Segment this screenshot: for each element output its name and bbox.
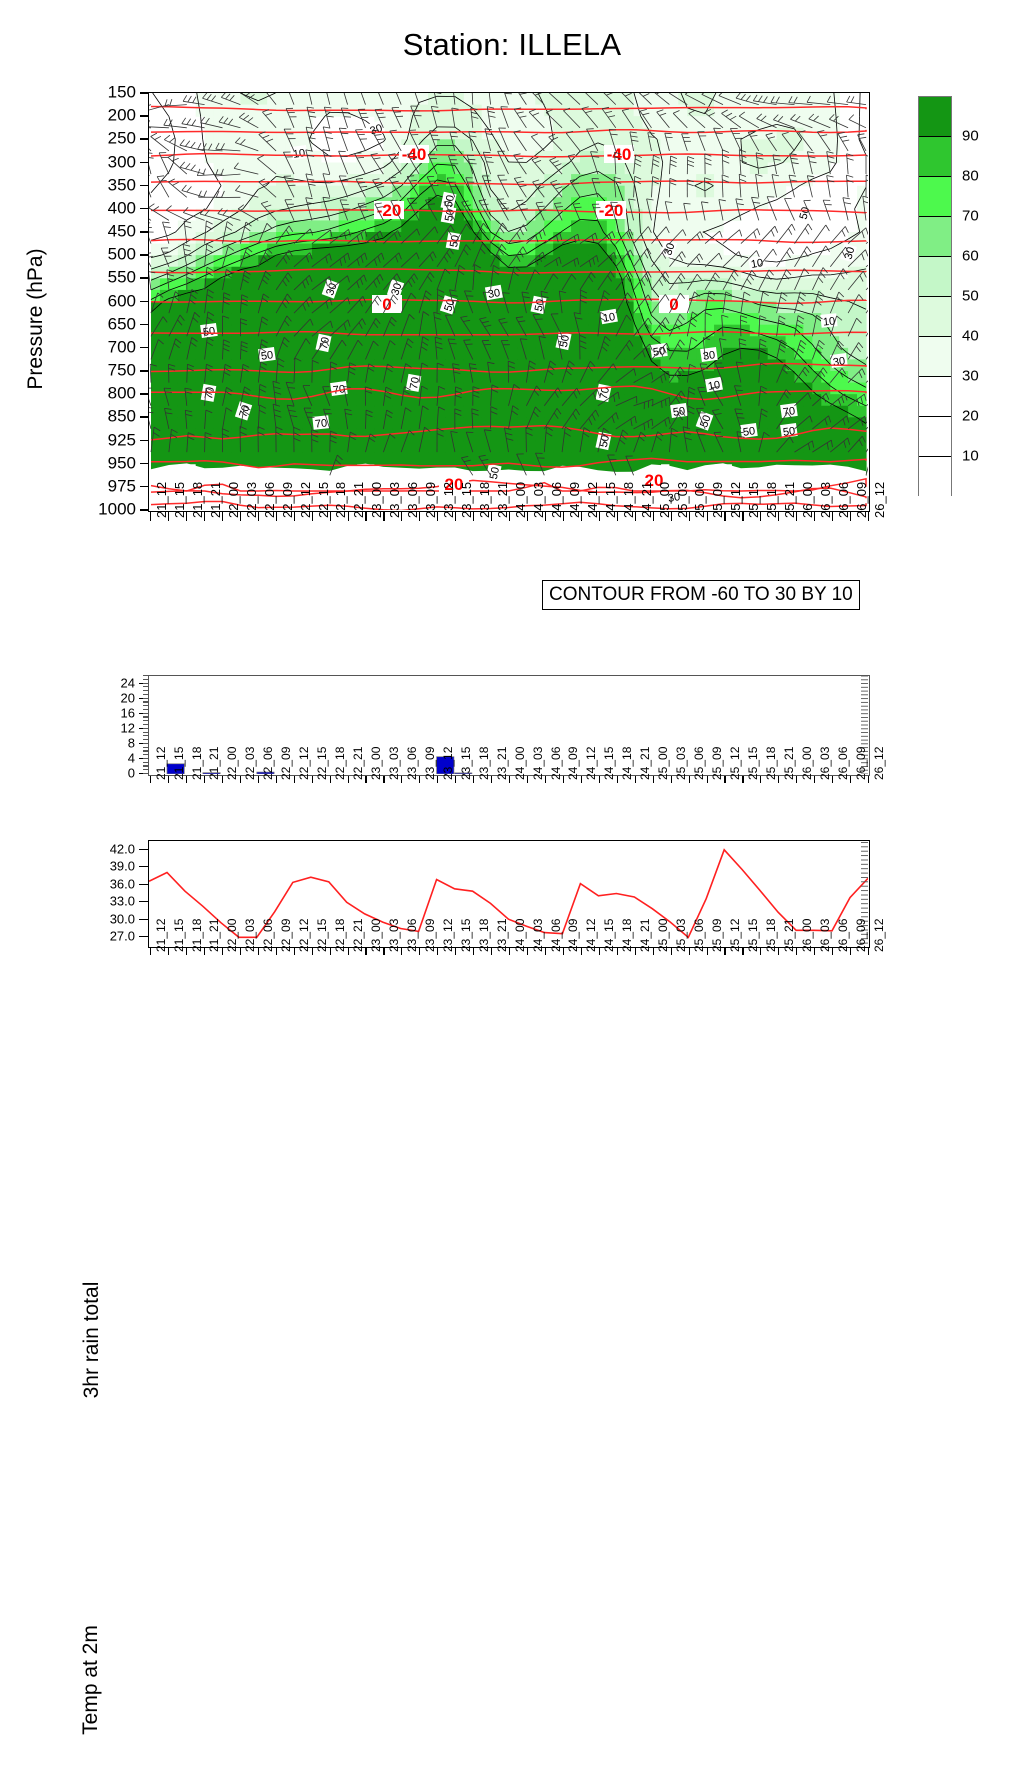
rain-tick-label: 12 [121,721,135,734]
cross-section-x-tick-label: 22_09 [281,482,294,518]
rain-x-tick-label: 22_21 [352,747,365,780]
humidity-colorbar [918,96,952,496]
rain-x-tick-mark [365,776,366,783]
temp-tick-label: 30.0 [110,912,135,925]
rain-x-tick-mark [473,776,474,783]
cross-section-x-tick-label: 22_18 [334,482,347,518]
temp-x-tick-label: 22_18 [334,919,347,952]
cross-section-x-tick-mark [814,512,815,521]
cross-section-x-tick-mark [150,512,151,521]
temp-x-tick-label: 21_18 [191,919,204,952]
colorbar-band [919,297,951,337]
temp-x-tick-label: 26_03 [819,919,832,952]
temp-x-tick-mark [168,948,169,955]
rain-x-tick-mark [168,776,169,783]
rain-tick-label: 4 [128,751,135,764]
rain-x-tick-label: 22_09 [280,747,293,780]
temp-x-tick-label: 22_21 [352,919,365,952]
pressure-tick-mark [140,138,148,140]
temp-x-tick-mark [222,948,223,955]
cross-section-x-tick-label: 26_06 [837,482,850,518]
rain-x-tick-label: 24_06 [550,747,563,780]
rain-x-tick-mark [401,776,402,783]
cross-section-x-tick-mark [599,512,600,521]
cross-section-x-tick-label: 25_06 [693,482,706,518]
temp-tick-label: 33.0 [110,895,135,908]
cross-section-x-tick-mark [760,512,761,521]
pressure-tick-label: 400 [108,199,136,216]
cross-section-x-tick-mark [276,512,277,521]
rain-x-tick-label: 24_03 [532,747,545,780]
rain-x-tick-mark [868,776,869,783]
pressure-tick-label: 550 [108,269,136,286]
rain-x-tick-label: 23_18 [478,747,491,780]
temp-tick-label: 27.0 [110,930,135,943]
pressure-tick-mark [140,324,148,326]
cross-section-x-tick-label: 23_21 [496,482,509,518]
cross-section-x-tick-label: 23_18 [478,482,491,518]
cross-section-x-tick-mark [742,512,743,521]
cross-section-x-tick-mark [204,512,205,521]
temp-x-tick-label: 26_06 [837,919,850,952]
cross-section-x-tick-label: 26_12 [873,482,886,518]
cross-section-svg: 3010505030505070505030707050707030503030… [149,93,868,510]
svg-text:-20: -20 [377,201,402,220]
pressure-tick-mark [140,393,148,395]
cross-section-x-tick-label: 25_18 [765,482,778,518]
pressure-tick-label: 600 [108,292,136,309]
temp-x-tick-mark [545,948,546,955]
temp-x-tick-mark [258,948,259,955]
svg-text:70: 70 [314,417,327,430]
temp-tick-mark [139,884,148,885]
colorbar-band [919,137,951,177]
temp-x-tick-label: 22_15 [316,919,329,952]
temp-x-tick-mark [581,948,582,955]
rain-x-tick-mark [724,776,725,783]
cross-section-x-tick-label: 24_15 [604,482,617,518]
cross-section-x-tick-label: 26_03 [819,482,832,518]
colorbar-band [919,337,951,377]
temp-x-tick-label: 23_03 [388,919,401,952]
temp-x-tick-mark [635,948,636,955]
colorbar-band [919,97,951,137]
temp-x-tick-mark [276,948,277,955]
cross-section-x-tick-mark [330,512,331,521]
pressure-tick-mark [140,185,148,187]
cross-section-x-tick-mark [527,512,528,521]
temp-x-tick-label: 23_12 [442,919,455,952]
temp-axis-label: Temp at 2m [79,1575,103,1785]
cross-section-panel: 3010505030505070505030707050707030503030… [148,92,870,512]
cross-section-x-tick-mark [581,512,582,521]
svg-text:-40: -40 [402,145,427,164]
temp-x-tick-mark [671,948,672,955]
rain-x-tick-mark [742,776,743,783]
pressure-tick-label: 1000 [98,501,136,518]
colorbar-band [919,377,951,417]
cross-section-x-tick-mark [222,512,223,521]
temp-tick-mark [139,849,148,850]
cross-section-x-tick-label: 25_21 [783,482,796,518]
temp-x-tick-mark [850,948,851,955]
cross-section-x-tick-mark [401,512,402,521]
temp-x-tick-mark [401,948,402,955]
rain-x-tick-label: 21_15 [173,747,186,780]
rain-x-tick-mark [348,776,349,783]
temp-x-tick-label: 24_09 [567,919,580,952]
rain-x-tick-mark [222,776,223,783]
rain-axis: 3hr rain total 04812162024 [0,660,148,790]
contour-label: 10 [600,309,618,326]
rain-x-tick-label: 25_21 [783,747,796,780]
temp-x-tick-mark [437,948,438,955]
rain-x-tick-mark [814,776,815,783]
cross-section-x-tick-mark [348,512,349,521]
cross-section-x-tick-label: 23_09 [424,482,437,518]
cross-section-x-tick-mark [671,512,672,521]
cross-section-x-tick-label: 21_12 [155,482,168,518]
temp-x-tick-mark [240,948,241,955]
pressure-tick-mark [140,440,148,442]
rain-tick-label: 20 [121,691,135,704]
contour-label: 30 [700,347,718,363]
cross-section-x-tick-mark [617,512,618,521]
temp-tick-label: 36.0 [110,877,135,890]
svg-text:50: 50 [672,405,686,419]
cross-section-x-tick-mark [653,512,654,521]
rain-x-tick-label: 26_03 [819,747,832,780]
temp-x-tick-mark [473,948,474,955]
rain-x-tick-mark [545,776,546,783]
svg-text:10: 10 [602,311,616,325]
temp-x-tick-label: 22_06 [262,919,275,952]
temp-x-tick-mark [707,948,708,955]
colorbar-tick-label: 80 [962,169,979,184]
rain-x-tick-mark [617,776,618,783]
rain-x-tick-label: 23_21 [496,747,509,780]
temp-axis: Temp at 2m 27.030.033.036.039.042.0 [0,830,148,960]
temp-tick-mark [139,866,148,867]
pressure-tick-label: 150 [108,84,136,101]
isotherm-label: -40 [399,145,429,164]
temp-x-tick-mark [832,948,833,955]
rain-x-tick-mark [527,776,528,783]
contour-label: 30 [485,285,503,302]
colorbar-tick-label: 60 [962,249,979,264]
rain-x-tick-mark [563,776,564,783]
svg-text:50: 50 [742,425,756,439]
pressure-tick-mark [140,486,148,488]
rain-x-tick-label: 24_12 [585,747,598,780]
rain-x-tick-label: 22_00 [226,747,239,780]
temp-x-tick-label: 22_12 [298,919,311,952]
rain-x-tick-label: 26_06 [837,747,850,780]
colorbar-band [919,417,951,457]
pressure-tick-mark [140,347,148,349]
cross-section-x-tick-mark [419,512,420,521]
rain-x-tick-mark [796,776,797,783]
colorbar-band [919,457,951,497]
pressure-tick-mark [140,416,148,418]
rain-x-tick-label: 23_12 [442,747,455,780]
temp-x-tick-mark [150,948,151,955]
rain-x-tick-label: 22_15 [316,747,329,780]
svg-text:50: 50 [202,325,216,339]
svg-text:30: 30 [487,287,501,301]
cross-section-x-tick-label: 24_12 [586,482,599,518]
cross-section-x-tick-label: 25_09 [711,482,724,518]
rain-x-tick-label: 24_18 [621,747,634,780]
pressure-tick-label: 500 [108,246,136,263]
temp-x-tick-mark [689,948,690,955]
rain-x-tick-mark [671,776,672,783]
cross-section-x-tick-mark [491,512,492,521]
rain-x-tick-mark [150,776,151,783]
temp-x-tick-mark [186,948,187,955]
temp-x-tick-label: 23_21 [496,919,509,952]
cross-section-x-tick-label: 23_06 [406,482,419,518]
pressure-tick-label: 350 [108,176,136,193]
cross-section-x-tick-mark [868,512,869,521]
colorbar-tick-label: 50 [962,289,979,304]
temp-tick-mark [139,901,148,902]
rain-x-tick-mark [850,776,851,783]
temp-x-tick-label: 21_15 [173,919,186,952]
temp-x-tick-mark [599,948,600,955]
contour-label: 50 [670,403,688,419]
rain-x-tick-mark [276,776,277,783]
temp-x-tick-label: 22_09 [280,919,293,952]
isotherm-label: -40 [604,145,634,164]
pressure-tick-mark [140,301,148,303]
cross-section-x-tick-mark [258,512,259,521]
cross-section-x-tick-label: 24_21 [640,482,653,518]
rain-x-tick-label: 25_00 [657,747,670,780]
pressure-tick-label: 450 [108,223,136,240]
rain-x-tick-mark [330,776,331,783]
temp-x-tick-mark [330,948,331,955]
rain-tick-label: 0 [128,767,135,780]
cross-section-x-tick-mark [455,512,456,521]
pressure-tick-mark [140,463,148,465]
temp-x-tick-label: 25_18 [765,919,778,952]
rain-x-tick-label: 25_18 [765,747,778,780]
temp-x-tick-mark [796,948,797,955]
cross-section-x-tick-label: 22_03 [245,482,258,518]
temp-tick-mark [139,936,148,937]
cross-section-x-tick-label: 23_12 [442,482,455,518]
cross-section-x-tick-label: 23_00 [370,482,383,518]
svg-text:30: 30 [832,355,846,369]
svg-text:10: 10 [292,147,306,161]
cross-section-x-tick-label: 22_06 [263,482,276,518]
temp-x-tick-mark [563,948,564,955]
cross-section-x-tick-label: 22_00 [227,482,240,518]
svg-text:50: 50 [533,298,547,312]
svg-text:-40: -40 [607,145,632,164]
temp-x-tick-label: 25_12 [729,919,742,952]
temp-x-tick-mark [724,948,725,955]
cross-section-x-tick-mark [724,512,725,521]
cross-section-x-tick-mark [365,512,366,521]
cross-section-x-tick-label: 23_15 [460,482,473,518]
rain-tick-label: 16 [121,706,135,719]
cross-section-x-tick-label: 22_15 [317,482,330,518]
cross-section-x-tick-mark [294,512,295,521]
rain-x-tick-mark [832,776,833,783]
rain-x-tick-label: 22_18 [334,747,347,780]
temp-x-tick-label: 25_09 [711,919,724,952]
rain-x-tick-mark [599,776,600,783]
rain-x-tick-mark [437,776,438,783]
pressure-tick-label: 700 [108,338,136,355]
temp-x-tick-label: 25_21 [783,919,796,952]
rain-x-tick-mark [383,776,384,783]
rain-x-tick-label: 24_09 [567,747,580,780]
cross-section-x-tick-mark [707,512,708,521]
page-title: Station: ILLELA [0,27,1024,63]
temp-x-tick-label: 22_00 [226,919,239,952]
pressure-tick-label: 950 [108,454,136,471]
rain-x-tick-mark [491,776,492,783]
rain-x-tick-label: 22_12 [298,747,311,780]
svg-text:0: 0 [382,295,391,314]
temp-x-tick-label: 26_12 [873,919,886,952]
temp-x-tick-label: 24_15 [603,919,616,952]
pressure-axis: Pressure (hPa) 1502002503003504004505005… [0,92,148,522]
temp-x-tick-mark [742,948,743,955]
svg-text:10: 10 [750,257,764,271]
temp-x-tick-mark [312,948,313,955]
temp-x-tick-mark [509,948,510,955]
contour-label: 30 [830,353,848,369]
rain-x-tick-label: 23_00 [370,747,383,780]
rain-x-tick-label: 23_09 [424,747,437,780]
rain-x-tick-mark [635,776,636,783]
rain-x-tick-label: 23_06 [406,747,419,780]
temp-x-tick-mark [868,948,869,955]
temp-x-tick-mark [778,948,779,955]
colorbar-band [919,177,951,217]
pressure-tick-label: 750 [108,362,136,379]
rain-x-tick-label: 26_09 [855,747,868,780]
rain-x-tick-label: 25_03 [675,747,688,780]
rain-x-tick-mark [204,776,205,783]
rain-x-tick-label: 26_00 [801,747,814,780]
pressure-tick-mark [140,231,148,233]
temp-x-tick-label: 23_00 [370,919,383,952]
temp-x-tick-label: 24_06 [550,919,563,952]
pressure-tick-mark [140,370,148,372]
rain-x-tick-mark [312,776,313,783]
colorbar-tick-label: 70 [962,209,979,224]
cross-section-x-tick-mark [545,512,546,521]
contour-label: 50 [441,206,458,224]
rain-tick-label: 8 [128,736,135,749]
temp-x-tick-mark [527,948,528,955]
cross-section-x-tick-label: 24_06 [550,482,563,518]
temp-x-tick-label: 25_15 [747,919,760,952]
colorbar-tick-label: 40 [962,329,979,344]
cross-section-x-tick-label: 26_00 [801,482,814,518]
cross-section-x-tick-label: 21_15 [173,482,186,518]
temp-x-tick-label: 23_18 [478,919,491,952]
colorbar-tick-label: 90 [962,129,979,144]
svg-text:50: 50 [488,466,502,480]
rain-x-tick-label: 24_15 [603,747,616,780]
rain-x-tick-mark [455,776,456,783]
temp-x-tick-mark [455,948,456,955]
temp-x-tick-mark [760,948,761,955]
temp-x-tick-label: 24_18 [621,919,634,952]
pressure-tick-mark [140,208,148,210]
cross-section-x-tick-mark [796,512,797,521]
temp-x-tick-label: 23_15 [460,919,473,952]
rain-x-tick-mark [581,776,582,783]
temp-x-tick-mark [204,948,205,955]
cross-section-x-tick-mark [383,512,384,521]
cross-section-x-tick-mark [473,512,474,521]
temp-x-tick-mark [617,948,618,955]
contour-caption: CONTOUR FROM -60 TO 30 BY 10 [542,580,860,610]
rain-x-tick-mark [240,776,241,783]
contour-label: 70 [312,415,329,431]
cross-section-x-tick-label: 23_03 [388,482,401,518]
colorbar-tick-label: 10 [962,449,979,464]
pressure-tick-label: 250 [108,130,136,147]
pressure-tick-mark [140,162,148,164]
temp-x-tick-label: 24_00 [514,919,527,952]
isotherm-label: 0 [372,295,402,314]
temp-x-tick-mark [348,948,349,955]
rain-x-tick-label: 22_03 [244,747,257,780]
temp-x-tick-mark [365,948,366,955]
pressure-tick-label: 300 [108,153,136,170]
rain-x-tick-label: 23_15 [460,747,473,780]
pressure-tick-label: 975 [108,477,136,494]
rain-x-tick-mark [419,776,420,783]
temp-x-tick-mark [294,948,295,955]
temp-x-tick-label: 25_06 [693,919,706,952]
cross-section-x-tick-label: 25_03 [676,482,689,518]
pressure-tick-label: 800 [108,385,136,402]
cross-section-x-tick-label: 21_18 [191,482,204,518]
temp-x-tick-label: 24_03 [532,919,545,952]
colorbar-tick-label: 30 [962,369,979,384]
rain-x-tick-mark [760,776,761,783]
temp-tick-label: 42.0 [110,842,135,855]
temp-x-tick-label: 23_09 [424,919,437,952]
rain-x-tick-label: 23_03 [388,747,401,780]
colorbar-band [919,217,951,257]
temp-x-tick-label: 24_21 [639,919,652,952]
cross-section-x-tick-mark [563,512,564,521]
rain-x-tick-label: 25_12 [729,747,742,780]
colorbar-band [919,257,951,297]
pressure-tick-label: 200 [108,107,136,124]
contour-label: 50 [258,347,276,363]
rain-x-tick-label: 25_06 [693,747,706,780]
cross-section-x-tick-label: 26_09 [855,482,868,518]
cross-section-x-tick-mark [240,512,241,521]
rain-x-tick-mark [258,776,259,783]
contour-label: 50 [795,203,813,222]
contour-label: 50 [200,323,218,339]
temp-x-tick-label: 21_21 [208,919,221,952]
svg-text:10: 10 [822,315,835,328]
rain-x-tick-label: 25_15 [747,747,760,780]
